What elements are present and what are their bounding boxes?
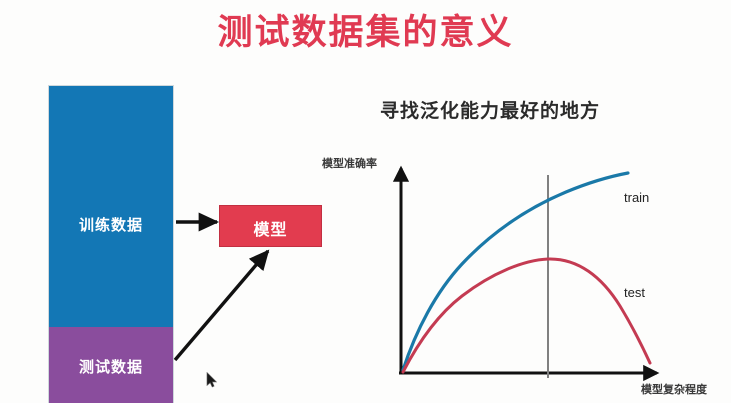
accuracy-vs-complexity-chart [0,0,731,403]
test-curve [403,259,650,372]
mouse-pointer-icon [206,372,218,388]
train-series-label: train [624,190,649,205]
y-axis-label: 模型准确率 [322,155,377,171]
train-curve [403,173,628,370]
x-axis-label: 模型复杂程度 [641,381,707,397]
slide-canvas: 测试数据集的意义 训练数据 测试数据 模型 寻找泛化能力最好的地方 [0,0,731,403]
test-series-label: test [624,285,645,300]
